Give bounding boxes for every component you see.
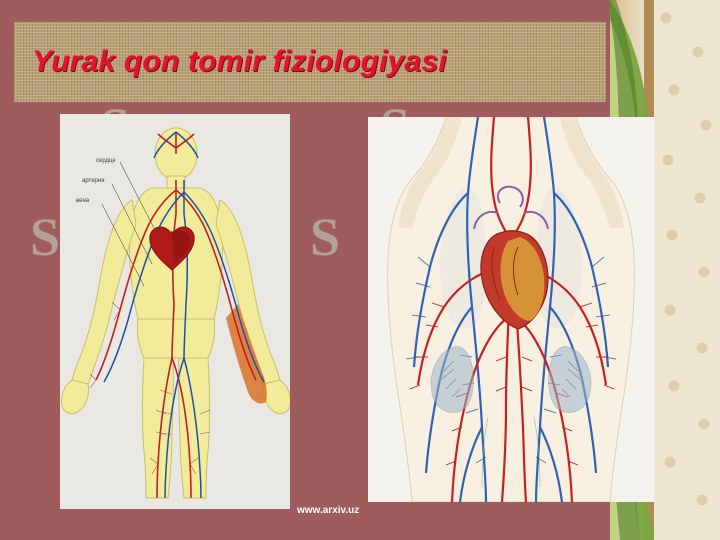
label-serdce: сердце: [96, 158, 116, 164]
torso-vasculature-svg: [368, 117, 654, 502]
watermark-glyph: S: [310, 210, 340, 264]
page-title: Yurak qon tomir fiziologiyasi: [32, 45, 447, 79]
figure-right-torso-vasculature: [368, 117, 654, 502]
label-vena: вена: [76, 198, 89, 204]
label-arteriya: артерия: [82, 178, 105, 184]
circulatory-system-svg: [60, 114, 290, 509]
watermark-glyph: S: [30, 210, 60, 264]
figure-left-circulatory-diagram: сердце артерия вена: [60, 114, 290, 509]
footer-url: www.arxiv.uz: [297, 505, 359, 516]
slide-title-bar: Yurak qon tomir fiziologiyasi: [14, 22, 606, 102]
